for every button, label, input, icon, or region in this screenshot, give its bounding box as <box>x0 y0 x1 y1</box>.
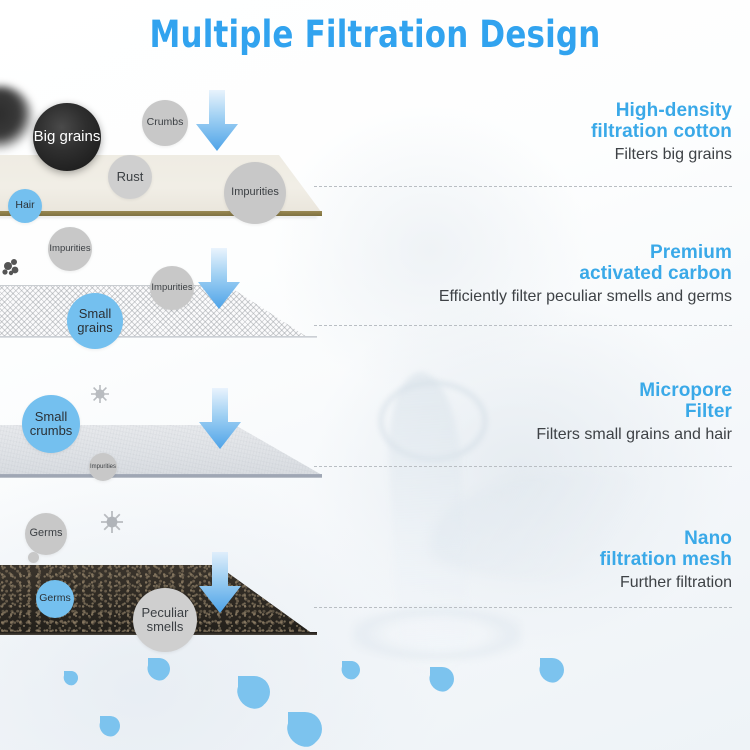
water-droplet-icon <box>96 712 124 740</box>
down-arrow-icon <box>195 90 239 152</box>
water-droplet-icon <box>425 662 459 696</box>
particle-impurities-2: Impurities <box>48 227 92 271</box>
down-arrow-icon <box>198 552 242 614</box>
layer-4-text-block: Nano filtration mesh Further filtration <box>600 528 732 594</box>
filter-layer-2-edge <box>0 336 317 338</box>
layer-3-subtitle: Filters small grains and hair <box>536 424 732 446</box>
particle-label: Impurities <box>49 244 90 254</box>
germ-particle-icon <box>98 508 126 536</box>
water-splash-decoration-bowl <box>378 380 488 462</box>
water-splash-decoration-ring <box>352 608 522 660</box>
page-title: Multiple Filtration Design <box>26 13 724 56</box>
particle-label: Impurities <box>90 464 116 470</box>
layer-2-title-line2: activated carbon <box>439 263 732 284</box>
particle-germs-1: Germs <box>25 513 67 555</box>
water-droplet-icon <box>61 668 81 688</box>
layer-4-title-line2: filtration mesh <box>600 549 732 570</box>
particle-label: Peculiar smells <box>133 606 197 633</box>
particle-label: Small grains <box>67 307 123 334</box>
particle-impurities-3: Impurities <box>150 266 194 310</box>
dark-particle-blob-decoration <box>0 86 34 152</box>
particle-crumbs: Crumbs <box>142 100 188 146</box>
water-droplet-icon <box>231 669 276 714</box>
water-droplet-icon <box>143 653 174 684</box>
layer-4-subtitle: Further filtration <box>600 572 732 594</box>
water-splash-decoration-column <box>384 370 472 673</box>
layer-1-title-line2: filtration cotton <box>591 121 732 142</box>
down-arrow-icon <box>198 388 242 450</box>
particle-small-grains: Small grains <box>67 293 123 349</box>
particle-label: Germs <box>30 528 63 540</box>
layer-3-text-block: Micropore Filter Filters small grains an… <box>536 380 732 446</box>
water-droplet-icon <box>281 705 329 750</box>
connector-line-4 <box>314 607 732 608</box>
layer-2-title-line1: Premium <box>439 242 732 263</box>
layer-1-text-block: High-density filtration cotton Filters b… <box>591 100 732 166</box>
layer-1-subtitle: Filters big grains <box>591 144 732 166</box>
filter-layer-3-edge <box>0 474 322 478</box>
particle-hair: Hair <box>8 189 42 223</box>
infographic-canvas: Multiple Filtration Design Big grains Cr… <box>0 0 750 750</box>
connector-line-2 <box>314 325 732 326</box>
particle-label: Germs <box>39 593 71 604</box>
layer-4-title-line1: Nano <box>600 528 732 549</box>
layer-3-title-line1: Micropore <box>536 380 732 401</box>
particle-big-grains: Big grains <box>33 103 101 171</box>
particle-impurities-1: Impurities <box>224 162 286 224</box>
layer-3-title-line2: Filter <box>536 401 732 422</box>
particle-germs-2: Germs <box>36 580 74 618</box>
particle-label: Rust <box>117 170 144 184</box>
connector-line-1 <box>314 186 732 187</box>
layer-2-subtitle: Efficiently filter peculiar smells and g… <box>439 286 732 308</box>
particle-rust: Rust <box>108 155 152 199</box>
water-droplet-icon <box>535 653 569 687</box>
particle-label: Small crumbs <box>22 410 80 437</box>
particle-small-crumbs: Small crumbs <box>22 395 80 453</box>
particle-label: Impurities <box>231 187 279 199</box>
germ-particle-icon <box>88 382 112 406</box>
layer-2-text-block: Premium activated carbon Efficiently fil… <box>439 242 732 308</box>
down-arrow-icon <box>197 248 241 310</box>
particle-impurities-4: Impurities <box>89 453 117 481</box>
particle-label: Impurities <box>151 283 192 293</box>
particle-label: Crumbs <box>147 117 184 128</box>
particle-peculiar-smells: Peculiar smells <box>133 588 197 652</box>
germ-particle-icon <box>0 256 30 286</box>
layer-1-title-line1: High-density <box>591 100 732 121</box>
water-droplet-icon <box>338 657 363 682</box>
connector-line-3 <box>314 466 732 467</box>
particle-dot-small <box>28 552 39 563</box>
particle-label: Hair <box>15 200 34 211</box>
particle-label: Big grains <box>34 129 101 145</box>
